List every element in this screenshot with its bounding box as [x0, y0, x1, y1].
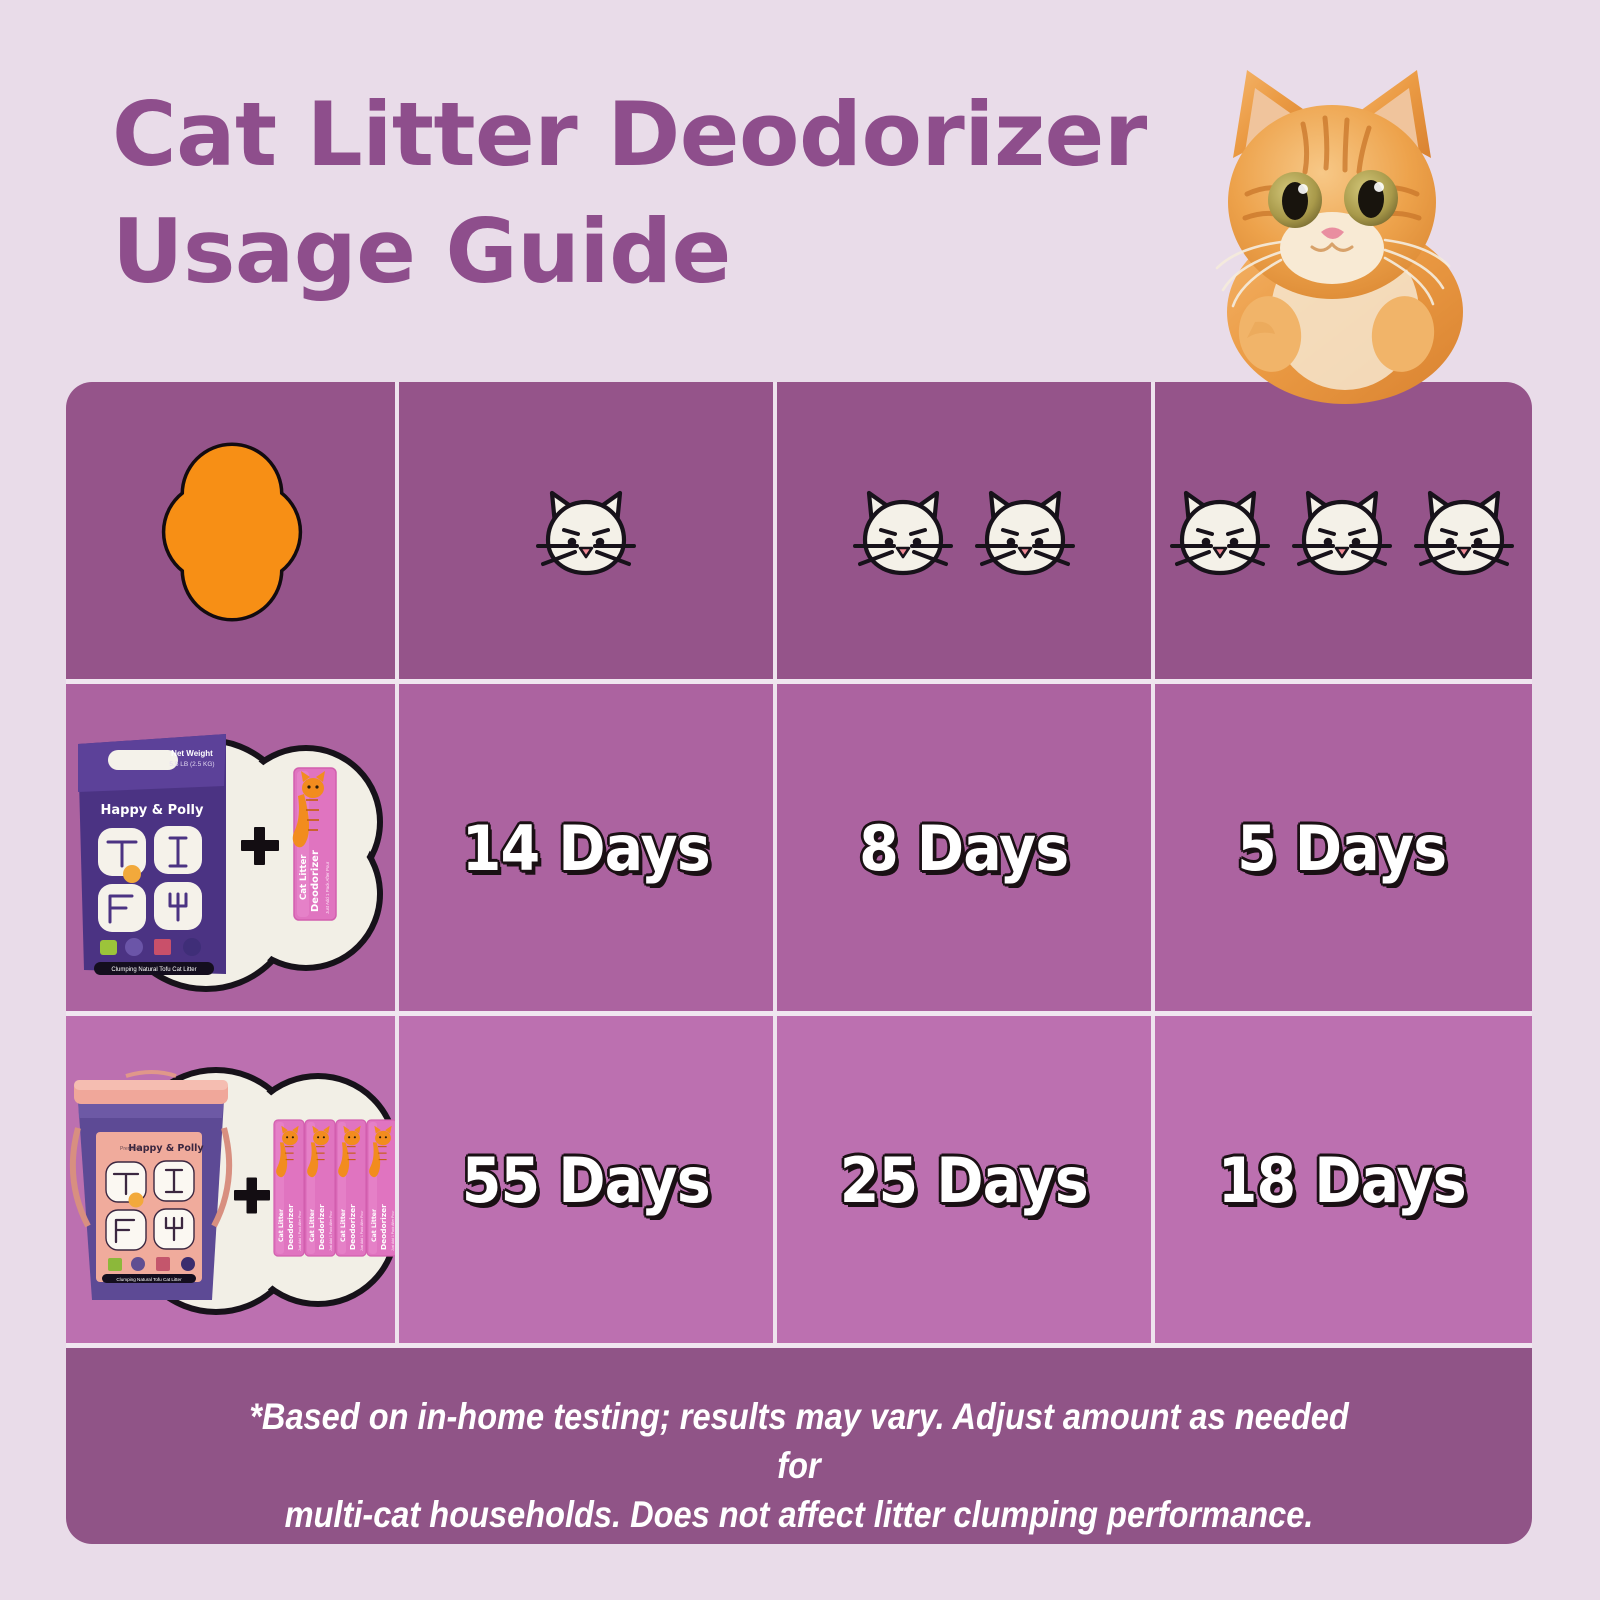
- cat-face-icon: [850, 482, 956, 582]
- value-cell-bag-one-cat: 14 Days: [397, 682, 775, 1014]
- svg-text:Cat Litter: Cat Litter: [371, 1208, 378, 1242]
- footnote-text: *Based on in-home testing; results may v…: [154, 1346, 1444, 1540]
- svg-text:Deodorizer: Deodorizer: [310, 850, 321, 912]
- svg-text:Clumping Natural Tofu Cat Litt: Clumping Natural Tofu Cat Litter: [111, 967, 196, 973]
- svg-text:Just Add 1 Pack After Pour: Just Add 1 Pack After Pour: [329, 1210, 333, 1251]
- cat-icon-group-1: [533, 482, 639, 582]
- cat-face-icon: [533, 482, 639, 582]
- svg-text:5.5 LB (2.5 KG): 5.5 LB (2.5 KG): [169, 761, 214, 768]
- days-value: 18 Days: [1218, 1144, 1466, 1217]
- header-cell-three-cats: [1153, 382, 1531, 682]
- cat-face-icon: [972, 482, 1078, 582]
- table-header-row: [66, 382, 1532, 682]
- value-cell-bag-three-cats: 5 Days: [1153, 682, 1531, 1014]
- svg-text:Happy & Polly: Happy & Polly: [101, 803, 204, 818]
- header-cell-one-cat: [397, 382, 775, 682]
- days-value: 14 Days: [462, 812, 710, 885]
- svg-text:Just Add 1 Pack After Pour: Just Add 1 Pack After Pour: [298, 1210, 302, 1251]
- value-cell-bag-two-cats: 8 Days: [775, 682, 1153, 1014]
- svg-text:Deodorizer: Deodorizer: [317, 1204, 326, 1250]
- cat-icon-group-3: [1167, 482, 1517, 582]
- value-cell-bucket-one-cat: 55 Days: [397, 1014, 775, 1346]
- cat-face-icon: [1411, 482, 1517, 582]
- page-title: Cat Litter Deodorizer Usage Guide: [112, 76, 1292, 310]
- svg-text:Cat Litter: Cat Litter: [278, 1208, 285, 1242]
- value-cell-bucket-three-cats: 18 Days: [1153, 1014, 1531, 1346]
- svg-text:Cat Litter: Cat Litter: [309, 1208, 316, 1242]
- tofu-bucket-plus-four-sticks-icon: Premium Happy & Polly: [66, 1014, 397, 1346]
- svg-text:Deodorizer: Deodorizer: [348, 1204, 357, 1250]
- days-value: 55 Days: [462, 1144, 710, 1217]
- page-title-text: Cat Litter Deodorizer Usage Guide: [112, 83, 1147, 303]
- usage-table: Net Weight 5.5 LB (2.5 KG) Happy & Polly: [66, 382, 1532, 1544]
- days-value: 8 Days: [859, 812, 1068, 885]
- svg-text:Cat Litter: Cat Litter: [299, 854, 309, 900]
- svg-text:Deodorizer: Deodorizer: [286, 1204, 295, 1250]
- infographic-root: Cat Litter Deodorizer Usage Guide: [0, 0, 1600, 1600]
- value-cell-bucket-two-cats: 25 Days: [775, 1014, 1153, 1346]
- cat-face-icon: [1289, 482, 1395, 582]
- product-cell-bucket: Premium Happy & Polly: [66, 1014, 397, 1346]
- table-row-bag: Net Weight 5.5 LB (2.5 KG) Happy & Polly: [66, 682, 1532, 1014]
- days-value: 25 Days: [840, 1144, 1088, 1217]
- orange-quatrefoil-icon: [126, 432, 338, 632]
- table-footer-row: *Based on in-home testing; results may v…: [66, 1346, 1532, 1544]
- header-cell-two-cats: [775, 382, 1153, 682]
- table-row-bucket: Premium Happy & Polly: [66, 1014, 1532, 1346]
- days-value: 5 Days: [1237, 812, 1446, 885]
- svg-text:Just Add 1 Pack After Pour: Just Add 1 Pack After Pour: [360, 1210, 364, 1251]
- product-cell-bag: Net Weight 5.5 LB (2.5 KG) Happy & Polly: [66, 682, 397, 1014]
- cat-face-icon: [1167, 482, 1273, 582]
- header-cell-product: [66, 382, 397, 682]
- cat-icon-group-2: [850, 482, 1078, 582]
- svg-text:Deodorizer: Deodorizer: [379, 1204, 388, 1250]
- svg-text:Cat Litter: Cat Litter: [340, 1208, 347, 1242]
- svg-text:Net Weight: Net Weight: [171, 749, 213, 758]
- tofu-bag-plus-stick-icon: Net Weight 5.5 LB (2.5 KG) Happy & Polly: [66, 682, 397, 1014]
- svg-text:Clumping Natural Tofu Cat Litt: Clumping Natural Tofu Cat Litter: [116, 1277, 182, 1282]
- svg-text:Happy & Polly: Happy & Polly: [128, 1143, 204, 1154]
- svg-text:Just Add 1 Pack After Pour: Just Add 1 Pack After Pour: [325, 861, 330, 914]
